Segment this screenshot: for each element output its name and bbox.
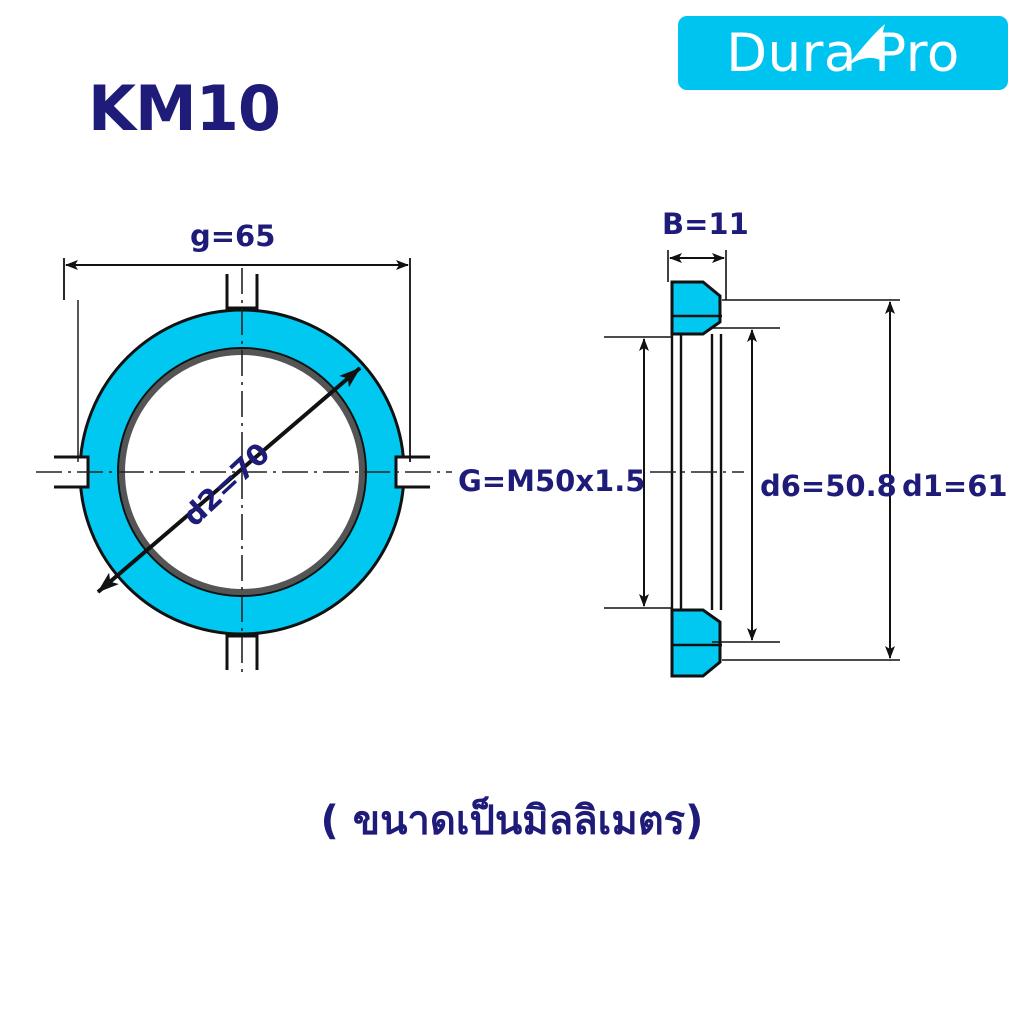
dimension-label-d6: d6=50.8 bbox=[760, 472, 897, 501]
section-upper-block bbox=[672, 282, 720, 334]
dimension-label-d1: d1=61 bbox=[902, 472, 1008, 501]
engineering-drawing bbox=[0, 0, 1024, 1024]
dimension-label-G-thread: G=M50x1.5 bbox=[458, 467, 645, 496]
dimension-label-B: B=11 bbox=[662, 210, 749, 239]
units-note: ( ขนาดเป็นมิลลิเมตร) bbox=[0, 788, 1024, 852]
technical-drawing-page: Dura Pro KM10 bbox=[0, 0, 1024, 1024]
section-lower-block bbox=[672, 610, 720, 676]
section-view-locknut bbox=[604, 250, 900, 676]
dimension-label-g: g=65 bbox=[190, 222, 275, 251]
